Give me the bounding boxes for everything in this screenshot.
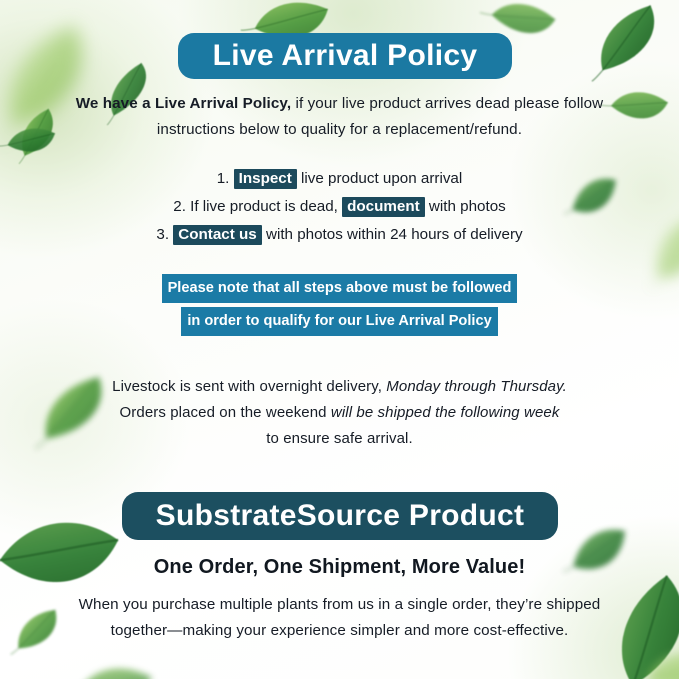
intro-line-2: instructions below to quality for a repl… bbox=[0, 117, 679, 143]
intro-bold-lead: We have a Live Arrival Policy, bbox=[76, 95, 291, 112]
substratesource-product-banner: SubstrateSource Product bbox=[122, 492, 558, 540]
step-pre-text: If live product is dead, bbox=[186, 198, 342, 215]
intro-paragraph: We have a Live Arrival Policy, if your l… bbox=[0, 91, 679, 143]
shipping-line2-plain: Orders placed on the weekend bbox=[120, 404, 331, 421]
shipping-note-line-2: Orders placed on the weekend will be shi… bbox=[0, 400, 679, 426]
live-arrival-policy-banner: Live Arrival Policy bbox=[178, 33, 512, 79]
list-item: 2. If live product is dead, document wit… bbox=[0, 193, 679, 221]
live-arrival-policy-infographic: Live Arrival Policy We have a Live Arriv… bbox=[0, 0, 679, 679]
step-post-text: with photos bbox=[425, 198, 506, 215]
step-post-text: live product upon arrival bbox=[297, 170, 462, 187]
step-number: 3. bbox=[156, 226, 169, 243]
step-highlight-document: document bbox=[342, 197, 425, 217]
step-highlight-contact-us: Contact us bbox=[173, 225, 261, 245]
shipping-note-line-3: to ensure safe arrival. bbox=[0, 426, 679, 452]
shipping-line1-italic: Monday through Thursday. bbox=[386, 378, 567, 395]
shipping-note-line-1: Livestock is sent with overnight deliver… bbox=[0, 374, 679, 400]
shipping-line1-plain: Livestock is sent with overnight deliver… bbox=[112, 378, 386, 395]
step-number: 1. bbox=[217, 170, 230, 187]
shipping-note-paragraph: Livestock is sent with overnight deliver… bbox=[0, 374, 679, 452]
shipping-line2-italic: will be shipped the following week bbox=[331, 404, 560, 421]
step-highlight-inspect: Inspect bbox=[234, 169, 297, 189]
please-note-line-1: Please note that all steps above must be… bbox=[162, 274, 518, 303]
content-layer: Live Arrival Policy We have a Live Arriv… bbox=[0, 0, 679, 679]
please-note-callout: Please note that all steps above must be… bbox=[0, 274, 679, 340]
list-item: 3. Contact us with photos within 24 hour… bbox=[0, 221, 679, 249]
product-tagline: One Order, One Shipment, More Value! bbox=[0, 556, 679, 579]
list-item: 1. Inspect live product upon arrival bbox=[0, 165, 679, 193]
policy-steps-list: 1. Inspect live product upon arrival 2. … bbox=[0, 165, 679, 249]
product-body-line-1: When you purchase multiple plants from u… bbox=[0, 592, 679, 618]
product-description-paragraph: When you purchase multiple plants from u… bbox=[0, 592, 679, 644]
step-post-text: with photos within 24 hours of delivery bbox=[262, 226, 523, 243]
product-body-line-2: together—making your experience simpler … bbox=[0, 618, 679, 644]
intro-rest: if your live product arrives dead please… bbox=[291, 95, 603, 112]
intro-line-1: We have a Live Arrival Policy, if your l… bbox=[0, 91, 679, 117]
please-note-line-2: in order to qualify for our Live Arrival… bbox=[181, 307, 497, 336]
step-number: 2. bbox=[173, 198, 186, 215]
